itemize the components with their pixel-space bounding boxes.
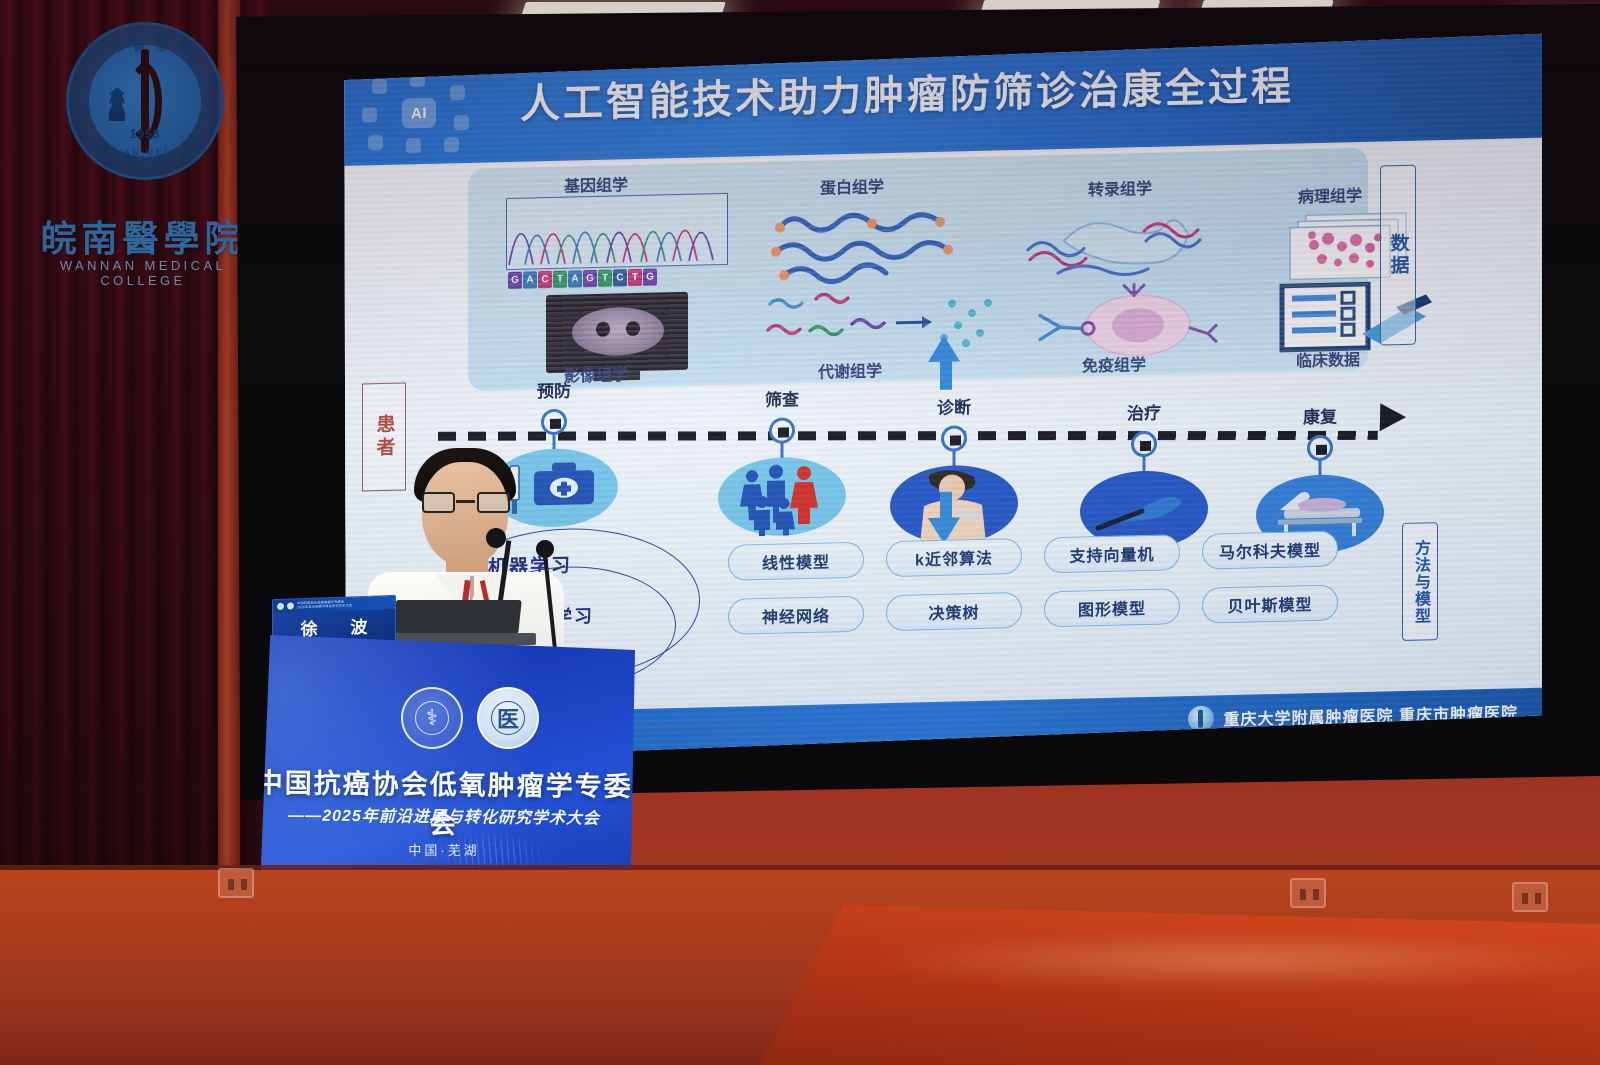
stage-label: 康复 (1303, 403, 1337, 429)
seal-arc-english: WANNAN MEDICAL COLLEGE (69, 147, 221, 167)
omics-label-radiomics: 影像组学 (564, 361, 628, 387)
seal-mark-right: 医 (497, 702, 519, 734)
side-label-methods-text: 方法与模型 (1408, 539, 1432, 625)
stage-pin-icon (941, 425, 967, 452)
ct-monitor-icon (546, 292, 688, 373)
omics-label-pathology: 病理组学 (1298, 182, 1362, 208)
omics-label-transcriptomics: 转录组学 (1088, 175, 1152, 201)
ai-node-icon (450, 85, 465, 100)
timeline-stage-prevention: 预防 (490, 407, 618, 410)
ai-node-icon (362, 107, 377, 122)
model-pill[interactable]: 决策树 (886, 592, 1022, 631)
ai-node-icon (406, 138, 421, 153)
dna-base-row: G A C T A G T C T G (508, 269, 657, 290)
ai-chip-label: AI (402, 98, 436, 129)
model-pill-row: 神经网络 决策树 图形模型 贝叶斯模型 (728, 583, 1388, 635)
medical-college-seal-icon: 医 (477, 687, 539, 749)
nameplate-header-line-2: 2025年前沿进展与转化研究学术大会 (297, 604, 352, 610)
stage-label: 诊断 (937, 393, 971, 419)
model-pill[interactable]: k近邻算法 (886, 538, 1022, 577)
laptop-lid (392, 600, 522, 634)
chromatogram-peaks (507, 194, 725, 267)
wall-institution-logo: 皖南醫學院 1958 WANNAN MEDICAL COLLEGE 皖南醫學院 … (18, 22, 268, 282)
ai-node-icon (444, 137, 459, 152)
omics-label-immunomics: 免疫组学 (1082, 351, 1146, 377)
stage-label: 治疗 (1127, 399, 1161, 425)
stage-pin-icon (1307, 435, 1333, 462)
population-group-icon (718, 456, 846, 537)
hospital-logo-icon (1188, 705, 1214, 732)
nameplate-header: 中国抗癌协会低氧肿瘤学专委会 2025年前沿进展与转化研究学术大会 (273, 596, 395, 613)
stage-pin-icon (1131, 431, 1157, 458)
speaker-head (422, 462, 508, 566)
ai-node-icon (454, 115, 469, 130)
dna-base: C (613, 269, 627, 286)
cancer-association-seal-icon: ⚕ (401, 687, 463, 749)
model-pill[interactable]: 神经网络 (728, 596, 864, 635)
dna-base: G (583, 270, 597, 287)
metabolite-molecule-icon (760, 284, 1010, 362)
immune-cell-icon (1038, 281, 1224, 363)
dna-base: T (553, 271, 567, 288)
omics-data-panel: 基因组学 (468, 148, 1368, 391)
model-pill[interactable]: 马尔科夫模型 (1202, 530, 1338, 569)
podium-subtitle: ——2025年前沿进展与转化研究学术大会 (253, 801, 635, 829)
wall-logo-name-en: WANNAN MEDICAL COLLEGE (18, 258, 268, 288)
side-label-data: 数据 (1380, 165, 1416, 346)
microphone-icon (536, 540, 554, 558)
model-pill[interactable]: 支持向量机 (1044, 534, 1180, 573)
dna-base: C (538, 271, 552, 288)
dna-base: G (508, 272, 522, 289)
floor-light-reflection (860, 930, 1600, 990)
wall-power-outlet[interactable] (218, 868, 254, 898)
model-pill-row: 线性模型 k近邻算法 支持向量机 马尔科夫模型 (728, 529, 1388, 581)
down-arrow-stem (940, 492, 952, 522)
dna-base: T (598, 270, 612, 287)
model-pill[interactable]: 线性模型 (728, 542, 864, 581)
conference-photo-scene: 皖南醫學院 1958 WANNAN MEDICAL COLLEGE 皖南醫學院 … (0, 0, 1600, 1065)
model-pill-grid: 线性模型 k近邻算法 支持向量机 马尔科夫模型 神经网络 决策树 图形模型 贝叶… (728, 529, 1388, 653)
college-seal-icon: 皖南醫學院 1958 WANNAN MEDICAL COLLEGE (66, 22, 224, 180)
rna-transcription-icon (1024, 203, 1214, 293)
seal-year: 1958 (69, 127, 221, 141)
side-label-data-text: 数据 (1385, 233, 1412, 278)
timeline-stage-diagnosis: 诊断 (890, 424, 1018, 427)
up-arrow-icon (928, 335, 960, 362)
ai-node-icon (372, 79, 387, 94)
microphone-icon (486, 528, 506, 548)
side-label-methods: 方法与模型 (1402, 522, 1438, 641)
ai-network-icon: AI (362, 71, 474, 156)
dna-base: T (628, 269, 642, 286)
protein-helix-icon (768, 199, 978, 290)
omics-label-metabolomics: 代谢组学 (818, 357, 882, 383)
monitor-stand (594, 371, 640, 381)
wall-power-outlet[interactable] (1512, 882, 1548, 912)
nameplate-seal-icon (287, 602, 294, 609)
timeline-stage-screening: 筛查 (718, 416, 846, 419)
dna-base: A (568, 270, 582, 287)
stage-label: 筛查 (765, 385, 799, 411)
model-pill[interactable]: 图形模型 (1044, 588, 1180, 627)
dna-base: A (523, 271, 537, 288)
wall-power-outlet[interactable] (1290, 878, 1326, 908)
podium-logo-row: ⚕ 医 (401, 687, 539, 749)
stage-label: 预防 (537, 377, 571, 403)
omics-label-clinical-data: 临床数据 (1296, 346, 1360, 372)
nameplate-seal-icon (277, 603, 284, 610)
model-pill[interactable]: 贝叶斯模型 (1202, 584, 1338, 623)
seal-mark-left: ⚕ (426, 705, 438, 731)
podium-city: 中国·芜湖 (253, 840, 635, 859)
omics-label-genomics: 基因组学 (564, 171, 628, 197)
eyeglasses-icon (420, 492, 512, 514)
wall-logo-name-cn: 皖南醫學院 (18, 210, 268, 262)
up-arrow-stem (940, 360, 952, 390)
omics-label-proteomics: 蛋白组学 (820, 173, 884, 199)
ai-node-icon (368, 135, 383, 150)
dna-base: G (643, 269, 657, 286)
sanger-chromatogram-icon (506, 193, 728, 270)
timeline-arrow-icon (1380, 403, 1407, 431)
